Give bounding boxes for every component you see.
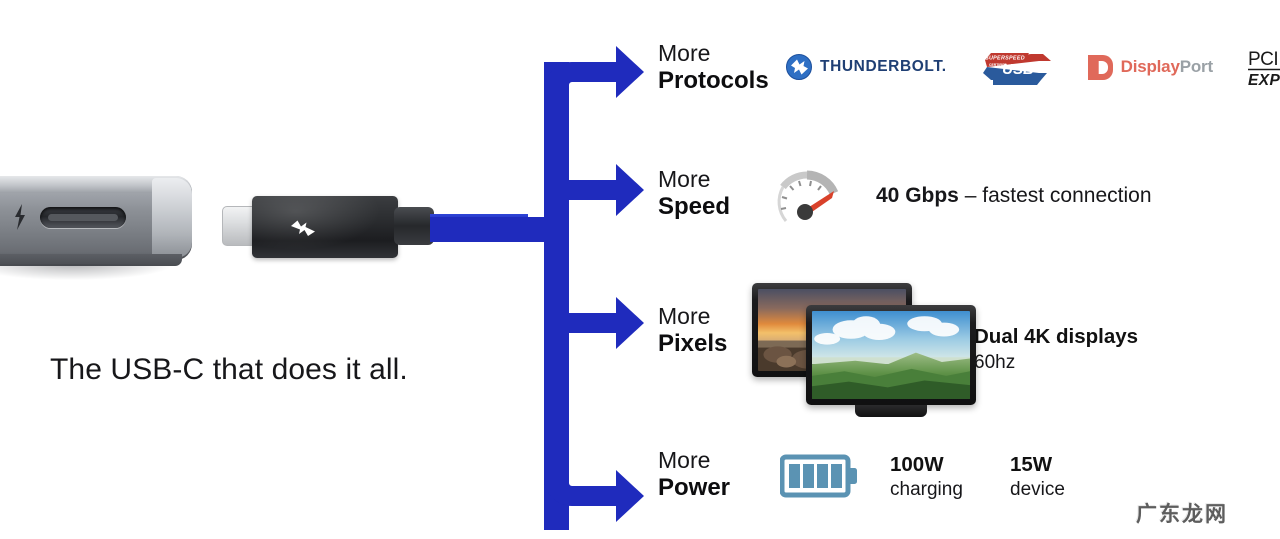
dual-monitors-icon — [746, 283, 960, 407]
protocol-logos: THUNDERBOLT. USB SUPERSPEED CERTIFIED — [786, 46, 1280, 88]
monitor-front — [806, 305, 976, 405]
row-label-speed: More Speed — [658, 166, 776, 221]
laptop-shadow — [0, 264, 172, 280]
svg-text:PCI: PCI — [1248, 49, 1278, 70]
superspeed-usb-trident-icon: USB SUPERSPEED CERTIFIED — [981, 47, 1053, 87]
connector-strain-relief — [394, 207, 434, 245]
laptop-corner-cap — [152, 178, 192, 258]
power-stat-charging: 100W charging — [890, 452, 963, 503]
branching-arrows-diagram — [430, 20, 670, 530]
row-protocols: More Protocols THUNDERBOLT. — [658, 40, 776, 95]
power-label: charging — [890, 478, 963, 502]
speed-detail: fastest connection — [982, 184, 1151, 207]
row-pixels: More Pixels — [658, 303, 776, 358]
laptop-edge-illustration — [0, 176, 200, 272]
power-label: device — [1010, 478, 1065, 502]
thunderbolt-logo: THUNDERBOLT. — [786, 54, 947, 80]
row-label-power: More Power — [658, 447, 776, 502]
row-more-text: More — [658, 40, 776, 67]
row-power: More Power 100W charging 15W device — [658, 447, 776, 502]
power-stat-device: 15W device — [1010, 452, 1065, 503]
connector-metal-tip — [222, 206, 256, 246]
row-key-text: Speed — [658, 193, 776, 221]
monitor-front-stand — [855, 405, 927, 417]
displayport-d-icon — [1087, 54, 1114, 81]
row-more-text: More — [658, 447, 776, 474]
infographic-canvas: The USB-C that does it all. More Protoco… — [0, 0, 1280, 539]
battery-icon — [780, 453, 862, 499]
watermark: 广东龙网 — [1136, 498, 1228, 528]
thunderbolt-badge-icon — [786, 54, 812, 80]
pci-express-logo: PCI EXPRESS — [1247, 46, 1280, 88]
speedometer-icon — [766, 169, 848, 231]
connector-housing — [252, 196, 398, 258]
speed-value: 40 Gbps — [876, 184, 959, 207]
row-key-text: Power — [658, 474, 776, 502]
pixels-text: Dual 4K displays 60hz — [974, 324, 1138, 375]
displayport-logo: DisplayPort — [1087, 54, 1213, 81]
thunderbolt-bolt-icon — [12, 204, 28, 230]
speed-text: 40 Gbps – fastest connection — [876, 184, 1152, 208]
thunderbolt-wordmark: THUNDERBOLT. — [820, 58, 947, 76]
power-value: 15W — [1010, 452, 1065, 478]
pixels-subline: 60hz — [974, 351, 1138, 376]
thunderbolt-connector — [222, 196, 452, 258]
tagline: The USB-C that does it all. — [50, 353, 408, 387]
svg-text:EXPRESS: EXPRESS — [1248, 72, 1280, 88]
usb-c-port — [40, 207, 126, 228]
pixels-headline: Dual 4K displays — [974, 324, 1138, 351]
power-value: 100W — [890, 452, 963, 478]
row-key-text: Protocols — [658, 67, 776, 95]
superspeed-usb-logo: USB SUPERSPEED CERTIFIED — [981, 47, 1053, 87]
row-label-protocols: More Protocols — [658, 40, 776, 95]
row-more-text: More — [658, 166, 776, 193]
pci-express-icon: PCI EXPRESS — [1247, 46, 1280, 88]
displayport-wordmark: DisplayPort — [1121, 57, 1213, 77]
svg-text:CERTIFIED: CERTIFIED — [989, 63, 1007, 67]
thunderbolt-logo-icon — [290, 218, 316, 238]
svg-text:SUPERSPEED: SUPERSPEED — [985, 56, 1025, 62]
row-speed: More Speed 40 Gbps – fastest connection — [658, 166, 776, 221]
speed-separator: – — [959, 184, 982, 207]
monitor-front-screen — [812, 311, 970, 399]
